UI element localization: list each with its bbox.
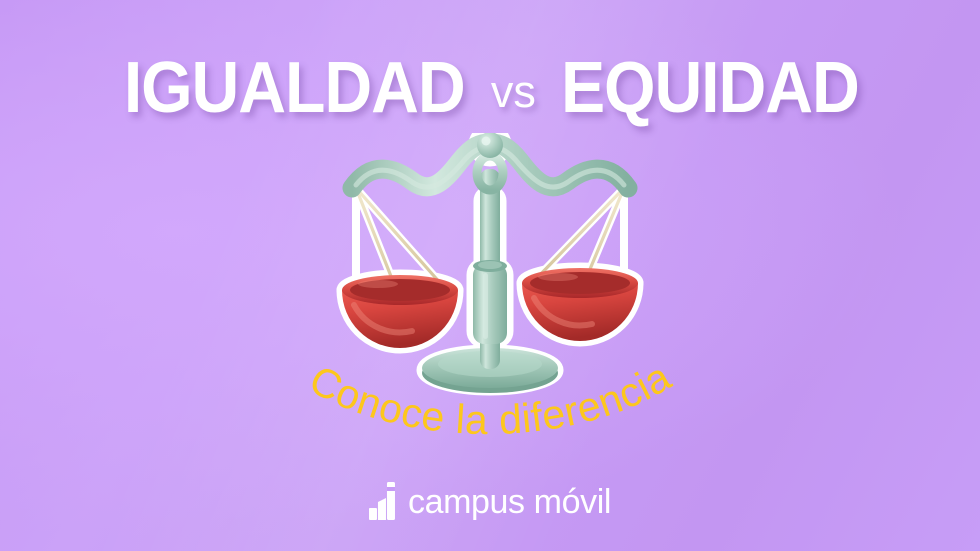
poster-canvas: IGUALDADvsEQUIDAD (0, 0, 980, 551)
tagline-curved-text: Conoce la diferencia (275, 348, 705, 453)
title-word-equidad: EQUIDAD (561, 52, 859, 124)
poster-title: IGUALDADvsEQUIDAD (0, 52, 980, 124)
brand-logo: campus móvil (369, 482, 611, 520)
title-separator-vs: vs (491, 69, 536, 114)
title-word-igualdad: IGUALDAD (123, 52, 464, 124)
brand-name: campus móvil (408, 485, 611, 519)
tagline-text: Conoce la diferencia (302, 353, 678, 443)
ascending-bars-icon (369, 482, 399, 520)
